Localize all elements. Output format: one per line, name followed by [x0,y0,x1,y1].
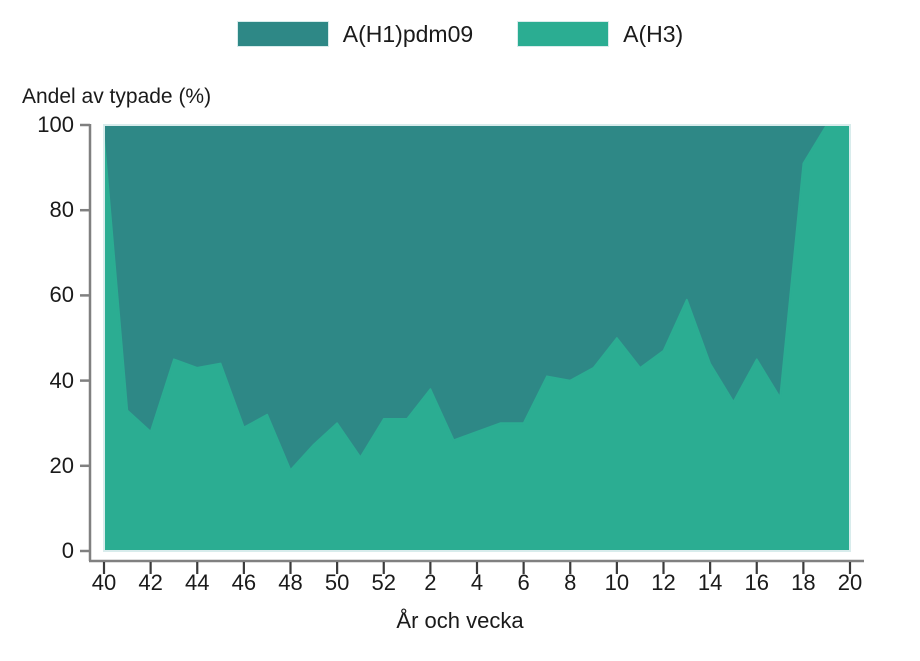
x-axis-tick-label: 6 [501,570,547,596]
plot-canvas [0,0,920,661]
x-axis-tick-label: 44 [174,570,220,596]
x-axis-tick-label: 20 [827,570,873,596]
x-axis-tick-label: 4 [454,570,500,596]
x-axis-tick-label: 8 [547,570,593,596]
x-axis-tick-label: 14 [687,570,733,596]
x-axis-tick-label: 42 [128,570,174,596]
x-axis-tick-label: 50 [314,570,360,596]
x-axis-tick-label: 46 [221,570,267,596]
x-axis-tick-label: 10 [594,570,640,596]
stacked-area-chart: Andel av typade (%) 020406080100 4042444… [0,0,920,661]
x-axis-title: År och vecka [0,608,920,634]
x-axis-tick-label: 2 [407,570,453,596]
x-axis-tick-label: 52 [361,570,407,596]
x-axis-tick-label: 18 [780,570,826,596]
x-axis-tick-label: 12 [641,570,687,596]
x-axis-tick-label: 40 [81,570,127,596]
x-axis-tick-label: 16 [734,570,780,596]
x-axis-tick-label: 48 [268,570,314,596]
series-areas [104,125,850,551]
